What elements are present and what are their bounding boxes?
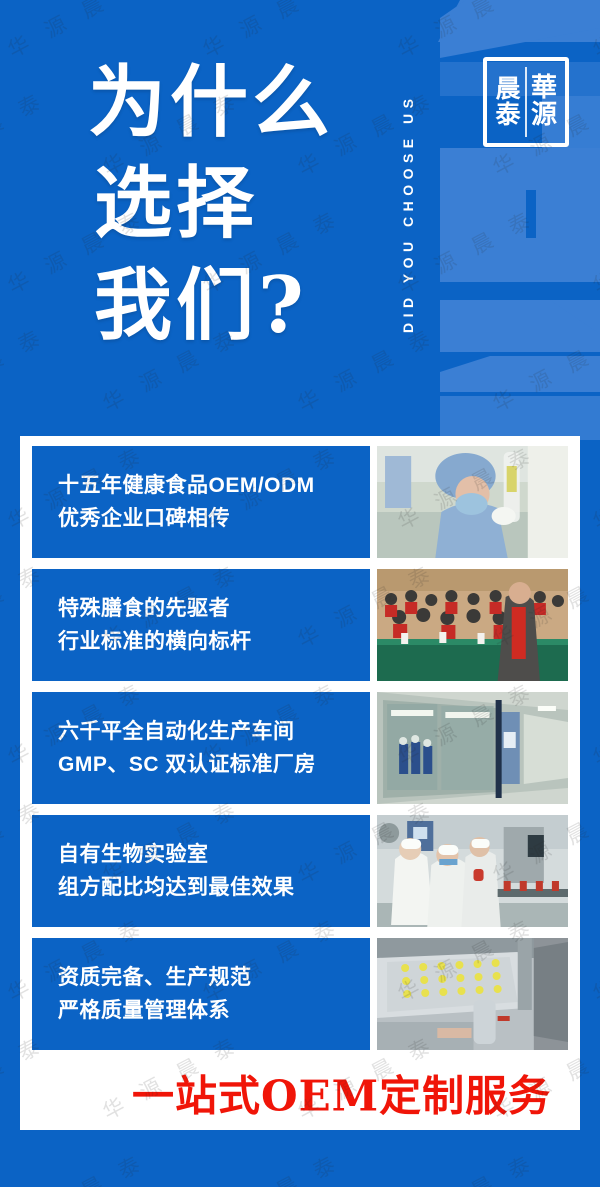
watermark-text: 华 源 晨 泰 <box>587 438 600 536</box>
feature-card-text: 自有生物实验室 组方配比均达到最佳效果 <box>32 815 370 927</box>
seal-char-yuan: 源 <box>531 102 557 129</box>
title-line-3: 我们? <box>94 255 334 356</box>
watermark-text: 华 源 晨 泰 <box>2 1146 151 1187</box>
watermark-text: 华 源 晨 泰 <box>587 674 600 772</box>
feature-card-text: 十五年健康食品OEM/ODM 优秀企业口碑相传 <box>32 446 370 558</box>
feature-photo-cleanroom-corridor <box>377 692 568 804</box>
watermark-text: 华 源 晨 泰 <box>392 1146 541 1187</box>
page-title: 为什么 选择 我们? <box>88 52 334 356</box>
feature-line-2: 组方配比均达到最佳效果 <box>58 871 370 904</box>
watermark-text: 华 源 晨 泰 <box>587 910 600 1008</box>
feature-card-text: 资质完备、生产规范 严格质量管理体系 <box>32 938 370 1050</box>
seal-char-chen: 晨 <box>495 76 520 102</box>
feature-card: 自有生物实验室 组方配比均达到最佳效果 <box>32 815 568 927</box>
feature-line-1: 六千平全自动化生产车间 <box>58 715 370 748</box>
feature-photo-tablet-packaging <box>377 938 568 1050</box>
company-seal-logo: 晨 泰 華 源 <box>483 57 569 147</box>
poster-root: 为什么 选择 我们? DID YOU CHOOSE US 晨 泰 華 源 十五年… <box>0 0 600 1187</box>
watermark-text: 华 源 晨 泰 <box>587 1146 600 1187</box>
feature-photo-conference-audience <box>377 569 568 681</box>
poster-header: 为什么 选择 我们? DID YOU CHOOSE US 晨 泰 華 源 <box>0 0 600 436</box>
vertical-english-caption: DID YOU CHOOSE US <box>400 22 426 404</box>
seal-char-tai: 泰 <box>495 102 520 128</box>
footer-slogan: 一站式OEM定制服务 <box>132 1063 551 1124</box>
feature-card: 六千平全自动化生产车间 GMP、SC 双认证标准厂房 <box>32 692 568 804</box>
feature-line-2: GMP、SC 双认证标准厂房 <box>58 748 370 781</box>
seal-divider <box>525 67 527 137</box>
seal-right-column: 華 源 <box>531 66 557 138</box>
seal-left-column: 晨 泰 <box>495 66 520 138</box>
feature-photo-lab-technician <box>377 446 568 558</box>
feature-line-2: 行业标准的横向标杆 <box>58 625 370 658</box>
feature-line-1: 资质完备、生产规范 <box>58 961 370 994</box>
watermark-text: 华 源 晨 泰 <box>197 1146 346 1187</box>
feature-panel: 十五年健康食品OEM/ODM 优秀企业口碑相传 <box>20 436 580 1056</box>
feature-photo-production-line <box>377 815 568 927</box>
feature-card-text: 特殊膳食的先驱者 行业标准的横向标杆 <box>32 569 370 681</box>
title-line-1: 为什么 <box>88 52 334 153</box>
feature-card-text: 六千平全自动化生产车间 GMP、SC 双认证标准厂房 <box>32 692 370 804</box>
feature-line-2: 优秀企业口碑相传 <box>58 502 370 535</box>
feature-card: 十五年健康食品OEM/ODM 优秀企业口碑相传 <box>32 446 568 558</box>
feature-card: 特殊膳食的先驱者 行业标准的横向标杆 <box>32 569 568 681</box>
feature-card: 资质完备、生产规范 严格质量管理体系 <box>32 938 568 1050</box>
seal-char-hua: 華 <box>531 75 557 102</box>
feature-line-1: 十五年健康食品OEM/ODM <box>58 469 370 502</box>
feature-line-1: 自有生物实验室 <box>58 838 370 871</box>
footer-banner: 晨 泰 華 源 一站式OEM定制服务 <box>20 1056 580 1130</box>
feature-line-1: 特殊膳食的先驱者 <box>58 592 370 625</box>
title-line-2: 选择 <box>94 153 334 254</box>
feature-line-2: 严格质量管理体系 <box>58 994 370 1027</box>
